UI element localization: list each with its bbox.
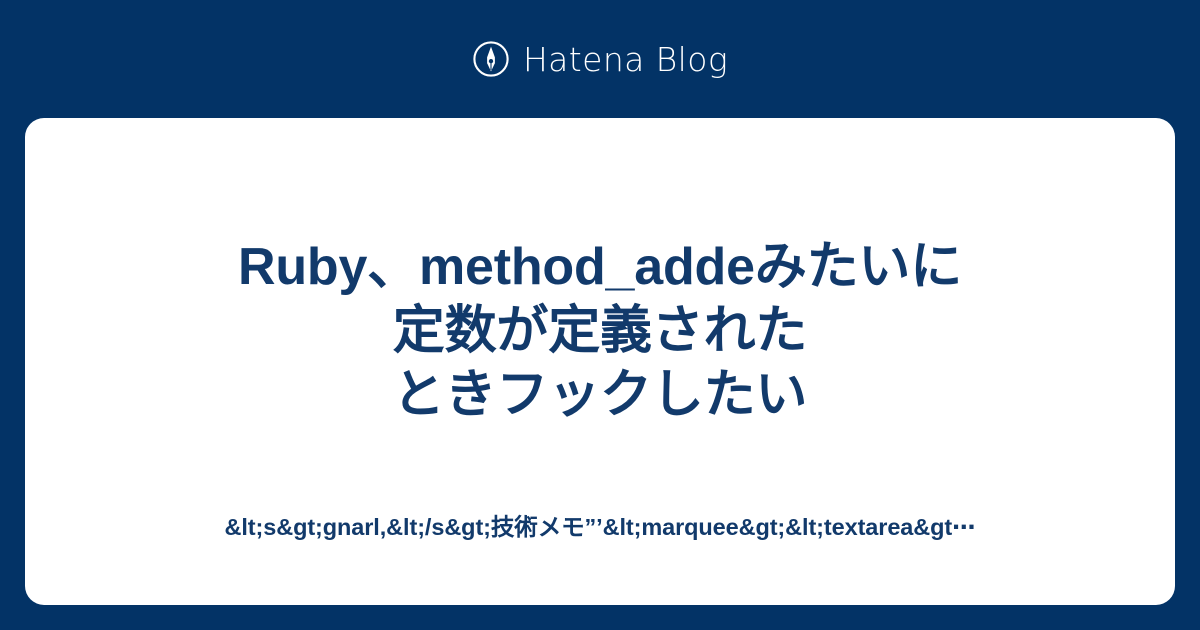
- fountain-pen-nib-icon: [472, 40, 510, 78]
- entry-card: Ruby、method_addeみたいに 定数が定義された ときフックしたい &…: [25, 118, 1175, 605]
- brand-header: Hatena Blog: [0, 0, 1200, 118]
- brand-wordmark: Hatena Blog: [523, 43, 728, 76]
- blog-name-subtitle: &lt;s&gt;gnarl,&lt;/s&gt;技術メモ”’&lt;marqu…: [25, 510, 1175, 544]
- ogp-card-canvas: Hatena Blog Ruby、method_addeみたいに 定数が定義され…: [0, 0, 1200, 630]
- entry-title: Ruby、method_addeみたいに 定数が定義された ときフックしたい: [25, 235, 1175, 427]
- entry-title-line-3: ときフックしたい: [65, 363, 1135, 427]
- entry-title-line-2: 定数が定義された: [65, 299, 1135, 363]
- entry-title-line-1: Ruby、method_addeみたいに: [65, 235, 1135, 299]
